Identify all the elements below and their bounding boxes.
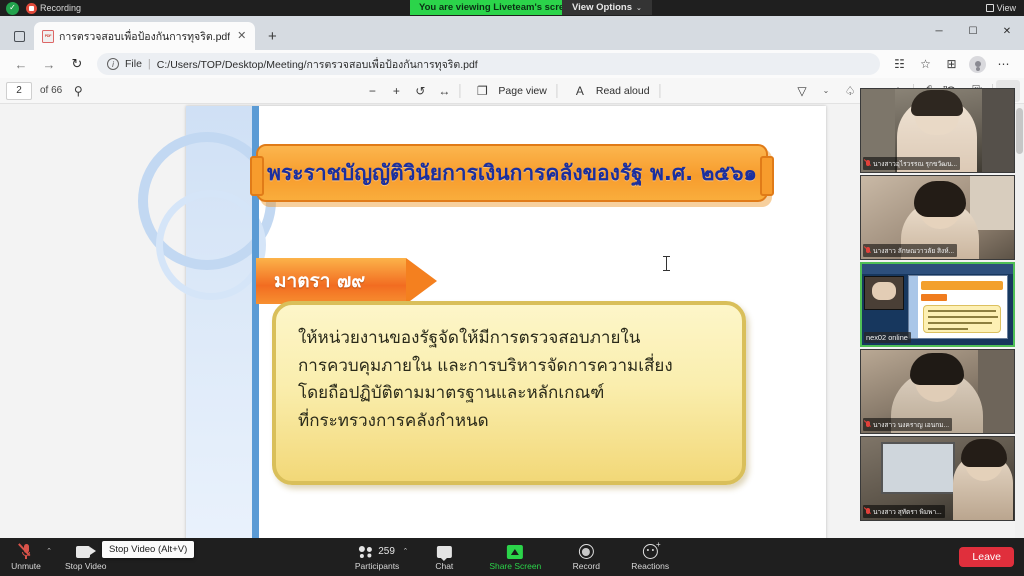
video-camera-icon [76,543,96,560]
favorite-star-icon[interactable]: ☆ [913,52,938,77]
participants-label: Participants [355,561,399,571]
url-text: C:/Users/TOP/Desktop/Meeting/การตรวจสอบเ… [157,56,478,73]
page-view-label: Page view [498,85,546,97]
zoom-top-overlay: ✓ Recording You are viewing Liveteam's s… [0,0,1024,16]
page-view-button[interactable]: ❐ Page view [463,80,553,102]
fit-page-icon[interactable]: ↔ [432,80,456,102]
scrollbar-thumb[interactable] [1016,108,1023,154]
page-number-input[interactable]: 2 [6,82,32,100]
chat-icon [437,543,452,560]
text-cursor-icon [666,256,667,271]
body-line: โดยถือปฏิบัติตามมาตรฐานและหลักเกณฑ์ [298,380,720,408]
view-options-button[interactable]: View Options ⌄ [562,0,652,15]
stop-video-label: Stop Video [65,561,106,571]
participant-name: นางสาว นงคราญ เอนกม... [873,419,949,430]
doc-title-banner [921,281,1003,290]
viewer-scrollbar[interactable] [1015,104,1024,538]
tile-inset-camera [864,276,904,310]
zoom-control-bar: Unmute ⌃ Stop Video Stop Video (Alt+V) 2… [0,538,1024,576]
url-input[interactable]: i File | C:/Users/TOP/Desktop/Meeting/กา… [97,53,880,75]
participant-name-badge: นางสาว สุทัตรา พิมพา... [863,505,945,518]
participant-name-badge: nex02 online [864,332,911,343]
rotate-icon[interactable]: ↺ [408,80,432,102]
immersive-reader-icon[interactable]: ☷ [887,52,912,77]
read-aloud-icon: A [568,80,592,102]
minimize-button[interactable]: ─ [922,16,956,46]
reload-icon[interactable]: ↻ [64,51,90,77]
zoom-main-controls: 259 Participants ⌃ Chat Share Screen Rec… [352,538,672,576]
grid-view-icon [986,4,994,12]
participants-icon: 259 [359,543,395,560]
doc-text-line [928,310,996,312]
page-total-label: of 66 [40,85,62,96]
slide-body-box: ให้หน่วยงานของรัฐจัดให้มีการตรวจสอบภายใน… [272,301,746,485]
zoom-view-button[interactable]: View [986,1,1016,14]
participant-tile[interactable]: นางสาว นงคราญ เอนกม... [860,349,1015,434]
participant-tile[interactable]: นางสาว ลักษณวาวลัย สิงห์... [860,175,1015,260]
share-screen-label: Share Screen [489,561,541,571]
participant-name: นางสาว สุทัตรา พิมพา... [873,506,942,517]
participant-tile-sharing[interactable]: nex02 online [860,262,1015,347]
body-line: ให้หน่วยงานของรัฐจัดให้มีการตรวจสอบภายใน [298,325,720,353]
participant-name: nex02 online [866,333,908,342]
stop-video-tooltip: Stop Video (Alt+V) [102,541,194,558]
pdf-page: พระราชบัญญัติวินัยการเงินการคลังของรัฐ พ… [186,106,826,538]
tile-monitor [881,442,955,494]
section-arrow-tag: มาตรา ๗๙ [256,258,406,304]
zoom-in-icon[interactable]: + [384,80,408,102]
browser-tab[interactable]: การตรวจสอบเพื่อป้องกันการทุจริต.pdf ✕ [34,22,255,50]
zoom-out-icon[interactable]: − [360,80,384,102]
unmute-button[interactable]: Unmute ⌃ [6,538,46,576]
share-screen-icon [507,543,523,560]
mic-muted-icon [865,508,871,516]
tile-hair [914,181,966,217]
draw-options-chevron-down-icon[interactable]: ⌄ [814,80,838,102]
page-view-icon: ❐ [470,80,494,102]
leave-button[interactable]: Leave [959,547,1014,567]
read-aloud-label: Read aloud [596,85,650,97]
avatar-icon [969,56,986,73]
body-line: ที่กระทรวงการคลังกำหนด [298,408,720,436]
zoom-av-controls: Unmute ⌃ Stop Video Stop Video (Alt+V) [6,538,109,576]
body-line: การควบคุมภายใน และการบริหารจัดการความเสี… [298,353,720,381]
participants-button[interactable]: 259 Participants ⌃ [352,538,402,576]
section-tag-label: มาตรา ๗๙ [274,266,365,296]
recording-label: Recording [40,3,81,13]
slide-title-banner: พระราชบัญญัติวินัยการเงินการคลังของรัฐ พ… [256,144,768,202]
slide-title: พระราชบัญญัติวินัยการเงินการคลังของรัฐ พ… [267,157,757,190]
record-label: Record [573,561,600,571]
draw-icon[interactable]: ▽ [790,80,814,102]
forward-icon[interactable]: → [36,51,62,77]
mic-muted-icon [865,160,871,168]
participant-name: นางสาวอุไรวรรณ รุกขวัฒน... [873,158,957,169]
tab-actions-button[interactable] [4,23,34,50]
share-screen-button[interactable]: Share Screen [486,538,544,576]
address-bar-actions: ☷ ☆ ⊞ ⋯ [887,52,1016,77]
reactions-button[interactable]: Reactions [628,538,672,576]
recording-indicator-group: ✓ Recording [0,2,81,15]
view-options-label: View Options [572,2,632,13]
participant-name: นางสาว ลักษณวาวลัย สิงห์... [873,245,954,256]
highlight-icon[interactable]: ♤ [838,80,862,102]
window-controls: ─ ☐ ✕ [922,16,1024,46]
doc-band [909,276,918,338]
chat-label: Chat [435,561,453,571]
doc-text-line [928,322,992,324]
tile-window [970,176,1014,230]
tile-hair [910,353,964,385]
microphone-muted-icon [21,543,31,560]
chevron-down-icon: ⌄ [636,4,642,12]
close-window-button[interactable]: ✕ [990,16,1024,46]
toolbar-divider [557,84,558,98]
participants-count: 259 [378,546,395,557]
tile-hair [911,90,963,116]
participant-tile[interactable]: นางสาวอุไรวรรณ รุกขวัฒน... [860,88,1015,173]
collections-icon[interactable]: ⊞ [939,52,964,77]
tile-bg-right [982,89,1014,173]
slide-decoration-band [186,106,259,538]
tile-hair [961,439,1007,467]
audio-options-chevron-up-icon[interactable]: ⌃ [46,547,52,555]
new-tab-button[interactable]: + [259,23,285,49]
participant-name-badge: นางสาวอุไรวรรณ รุกขวัฒน... [863,157,960,170]
security-shield-icon[interactable]: ✓ [6,2,19,15]
recording-stop-icon[interactable]: Recording [26,3,81,14]
participant-name-badge: นางสาว ลักษณวาวลัย สิงห์... [863,244,957,257]
mic-muted-icon [865,421,871,429]
unmute-label: Unmute [11,561,41,571]
participant-tile[interactable]: นางสาว สุทัตรา พิมพา... [860,436,1015,521]
tile-wall [978,350,1014,434]
site-info-icon[interactable]: i [107,58,119,70]
reactions-icon [643,543,658,560]
url-scheme-label: File [125,58,142,70]
back-icon[interactable]: ← [8,51,34,77]
doc-body-box [923,305,1001,333]
search-icon[interactable]: ⚲ [66,80,90,102]
url-separator: | [148,58,151,70]
doc-text-line [928,316,998,318]
toolbar-divider [660,84,661,98]
maximize-button[interactable]: ☐ [956,16,990,46]
toolbar-divider [459,84,460,98]
tile-shared-document [908,275,1008,339]
chat-button[interactable]: Chat [424,538,464,576]
tile-hand [872,282,896,300]
reactions-label: Reactions [631,561,669,571]
read-aloud-button[interactable]: A Read aloud [561,80,657,102]
mic-muted-icon [865,247,871,255]
record-button[interactable]: Record [566,538,606,576]
participant-name-badge: นางสาว นงคราญ เอนกม... [863,418,952,431]
screen-share-notice: You are viewing Liveteam's screen [410,0,584,15]
video-thumbnail-strip: นางสาวอุไรวรรณ รุกขวัฒน... นางสาว ลักษณว… [860,88,1015,522]
pdf-toolbar-center: − + ↺ ↔ ❐ Page view A Read aloud [360,80,663,102]
doc-text-line [928,328,968,330]
tab-title: การตรวจสอบเพื่อป้องกันการทุจริต.pdf [59,28,230,45]
participants-chevron-up-icon[interactable]: ⌃ [402,547,408,555]
more-options-icon[interactable]: ⋯ [991,52,1016,77]
address-bar: ← → ↻ i File | C:/Users/TOP/Desktop/Meet… [0,50,1024,78]
zoom-view-label: View [997,3,1016,13]
profile-avatar[interactable] [965,52,990,77]
record-icon [579,543,594,560]
pdf-favicon-icon [42,30,54,43]
tab-close-icon[interactable]: ✕ [235,31,248,42]
tab-strip: การตรวจสอบเพื่อป้องกันการทุจริต.pdf ✕ + … [0,16,1024,50]
tile-titlebar [862,264,1015,274]
tab-actions-icon [14,31,25,42]
doc-arrow-tag [921,294,947,301]
record-dot-icon [26,3,37,14]
